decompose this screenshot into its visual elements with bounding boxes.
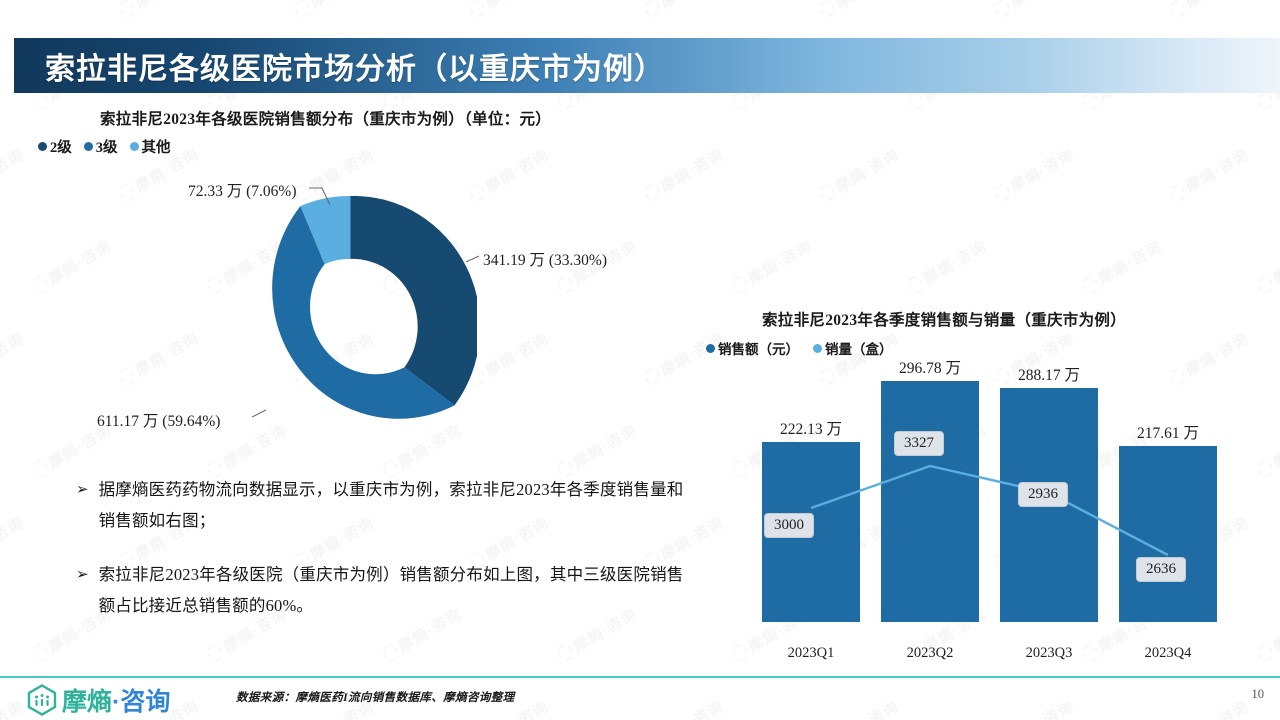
donut-leader-lines	[0, 0, 700, 470]
watermark-text: 摩熵·咨询	[729, 235, 816, 297]
brand-logo-text: 摩熵·咨询	[62, 682, 170, 718]
watermark-text: 摩熵·咨询	[991, 695, 1078, 720]
legend-item-volume[interactable]: 销量（盒）	[813, 338, 893, 358]
bullet-arrow-icon: ➢	[76, 474, 89, 536]
brand-name-secondary: ·咨询	[112, 688, 170, 716]
watermark-text: 摩熵·咨询	[1254, 603, 1280, 665]
legend-item-revenue[interactable]: 销售额（元）	[706, 338, 799, 358]
hexagon-logo-icon	[27, 684, 57, 716]
bar-chart-title: 索拉非尼2023年各季度销售额与销量（重庆市为例）	[762, 308, 1126, 330]
page-number: 10	[1252, 687, 1265, 702]
watermark-text: 摩熵·咨询	[991, 0, 1078, 22]
bar-chart-plot: 222.13 万 296.78 万 288.17 万 217.61 万 3000…	[740, 370, 1220, 670]
watermark-text: 摩熵·咨询	[816, 695, 903, 720]
watermark-text: 摩熵·咨询	[641, 695, 728, 720]
watermark-text: 摩熵·咨询	[0, 695, 27, 720]
bar-chart-legend: 销售额（元） 销量（盒）	[706, 338, 893, 358]
bullet-item-1: ➢ 据摩熵医药药物流向数据显示，以重庆市为例，索拉非尼2023年各季度销售量和销…	[76, 474, 686, 536]
donut-data-label-level3: 611.17 万 (59.64%)	[97, 409, 220, 431]
bullet-item-2: ➢ 索拉非尼2023年各级医院（重庆市为例）销售额分布如上图，其中三级医院销售额…	[76, 559, 686, 621]
watermark-text: 摩熵·咨询	[0, 511, 27, 573]
legend-swatch-revenue	[706, 344, 715, 353]
donut-data-label-level2: 341.19 万 (33.30%)	[483, 248, 607, 270]
bullet-arrow-icon: ➢	[76, 559, 89, 621]
donut-data-label-other: 72.33 万 (7.06%)	[188, 179, 297, 201]
bullet-text-2: 索拉非尼2023年各级医院（重庆市为例）销售额分布如上图，其中三级医院销售额占比…	[99, 559, 686, 621]
legend-label-volume: 销量（盒）	[825, 338, 893, 358]
legend-swatch-volume	[813, 344, 822, 353]
watermark-text: 摩熵·咨询	[991, 143, 1078, 205]
line-value-q4: 2636	[1136, 557, 1186, 582]
watermark-text: 摩熵·咨询	[1166, 143, 1253, 205]
legend-label-revenue: 销售额（元）	[718, 338, 799, 358]
watermark-text: 摩熵·咨询	[1254, 419, 1280, 481]
brand-name-primary: 摩熵	[62, 688, 112, 716]
watermark-text: 摩熵·咨询	[816, 143, 903, 205]
watermark-text: 摩熵·咨询	[1079, 235, 1166, 297]
line-value-q1: 3000	[764, 513, 814, 538]
watermark-text: 摩熵·咨询	[904, 235, 991, 297]
source-note: 数据来源：摩熵医药I流向销售数据库、摩熵咨询整理	[236, 689, 515, 705]
bullet-list: ➢ 据摩熵医药药物流向数据显示，以重庆市为例，索拉非尼2023年各季度销售量和销…	[76, 474, 686, 644]
brand-logo[interactable]: 摩熵·咨询	[27, 682, 170, 718]
watermark-text: 摩熵·咨询	[1254, 235, 1280, 297]
line-value-q2: 3327	[894, 431, 944, 456]
watermark-text: 摩熵·咨询	[1166, 0, 1253, 22]
watermark-text: 摩熵·咨询	[1166, 695, 1253, 720]
footer-divider	[0, 676, 1280, 678]
bullet-text-1: 据摩熵医药药物流向数据显示，以重庆市为例，索拉非尼2023年各季度销售量和销售额…	[99, 474, 686, 536]
watermark-text: 摩熵·咨询	[816, 0, 903, 22]
line-value-q3: 2936	[1018, 482, 1068, 507]
